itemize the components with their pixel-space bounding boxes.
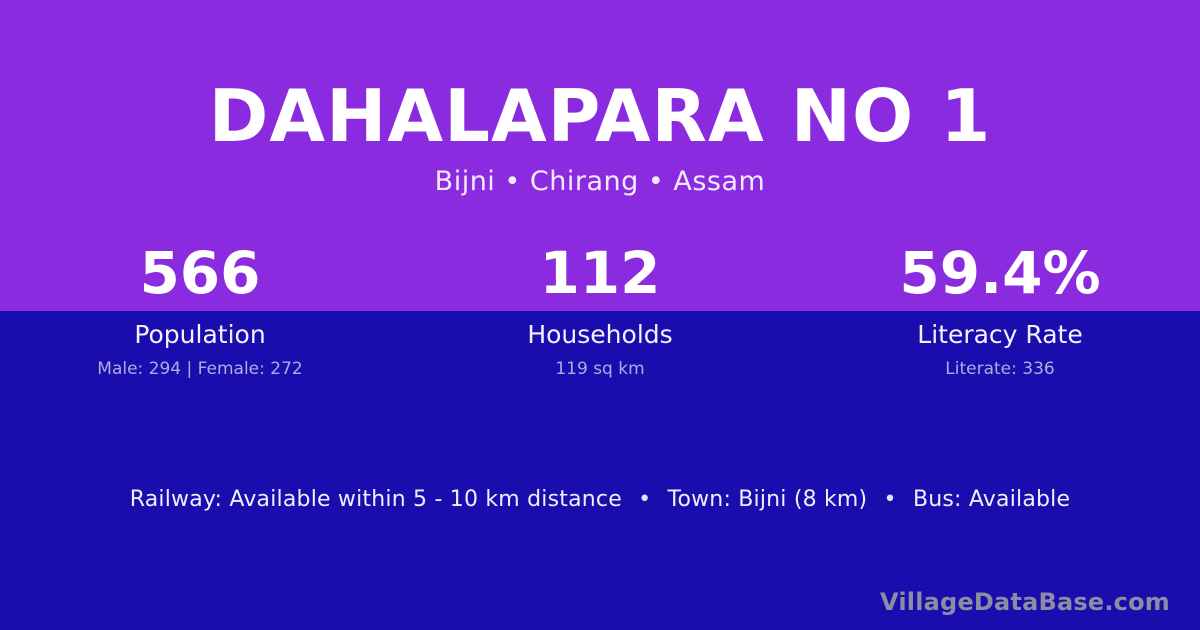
stats-row: 566 Population Male: 294 | Female: 272 1…: [0, 244, 1200, 378]
stat-label: Households: [400, 322, 800, 347]
site-watermark: VillageDataBase.com: [880, 588, 1170, 616]
breadcrumb: Bijni • Chirang • Assam: [0, 166, 1200, 197]
stat-value: 112: [400, 244, 800, 302]
stat-population: 566 Population Male: 294 | Female: 272: [0, 244, 400, 378]
stat-households: 112 Households 119 sq km: [400, 244, 800, 378]
card-header: DAHALAPARA NO 1 Bijni • Chirang • Assam: [0, 0, 1200, 197]
stat-value: 59.4%: [800, 244, 1200, 302]
stat-sublabel: Male: 294 | Female: 272: [0, 361, 400, 378]
amenity-separator: •: [875, 487, 906, 512]
amenities-line: Railway: Available within 5 - 10 km dist…: [0, 487, 1200, 512]
amenity-bus: Bus: Available: [913, 487, 1070, 512]
stat-literacy-rate: 59.4% Literacy Rate Literate: 336: [800, 244, 1200, 378]
amenity-railway: Railway: Available within 5 - 10 km dist…: [130, 487, 622, 512]
amenity-separator: •: [629, 487, 660, 512]
page-title: DAHALAPARA NO 1: [0, 78, 1200, 156]
amenity-town: Town: Bijni (8 km): [668, 487, 868, 512]
stat-sublabel: 119 sq km: [400, 361, 800, 378]
stat-label: Population: [0, 322, 400, 347]
stat-sublabel: Literate: 336: [800, 361, 1200, 378]
stat-value: 566: [0, 244, 400, 302]
stat-label: Literacy Rate: [800, 322, 1200, 347]
village-info-card: DAHALAPARA NO 1 Bijni • Chirang • Assam …: [0, 0, 1200, 630]
